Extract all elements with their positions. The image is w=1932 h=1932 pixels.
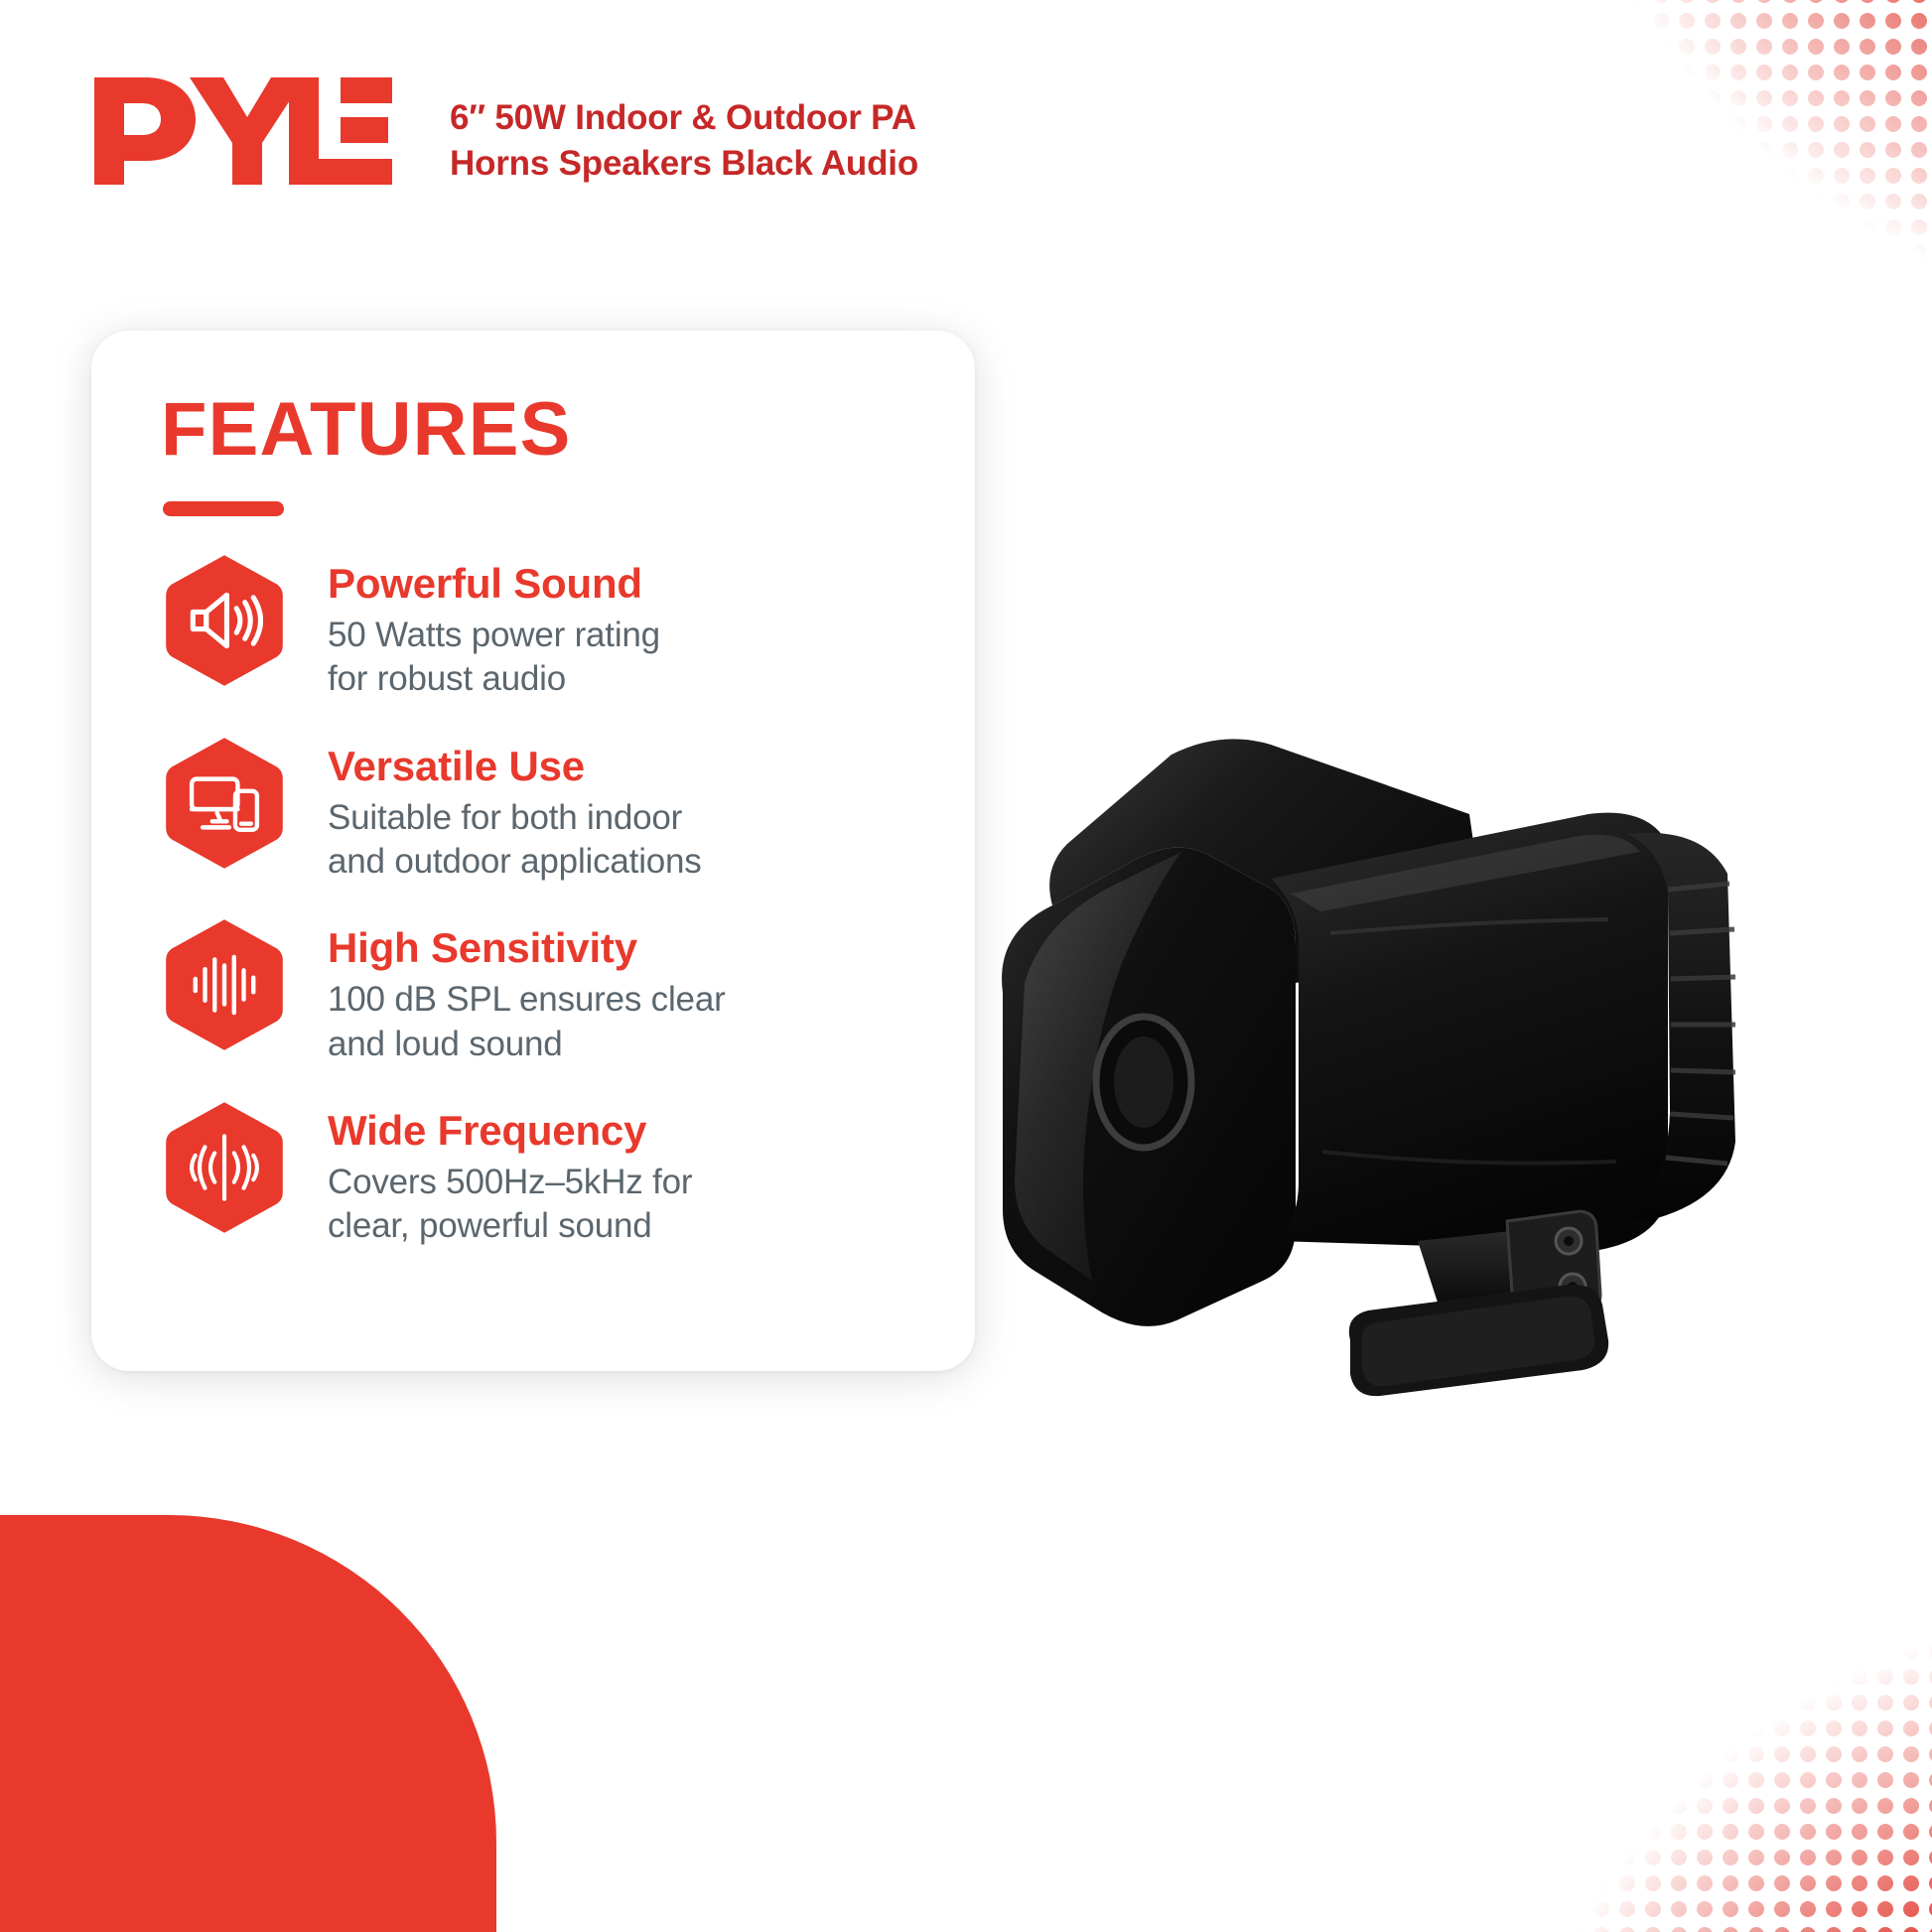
product-title: 6″ 50W Indoor & Outdoor PA Horns Speaker… xyxy=(450,77,918,186)
feature-description: Covers 500Hz–5kHz for clear, powerful so… xyxy=(328,1161,692,1248)
product-image xyxy=(973,685,1797,1440)
feature-text: High Sensitivity 100 dB SPL ensures clea… xyxy=(328,915,726,1066)
feature-item: Versatile Use Suitable for both indoor a… xyxy=(155,734,949,885)
feature-title: Versatile Use xyxy=(328,744,702,788)
speaker-waves-icon xyxy=(186,582,263,659)
halftone-dots-top-right-icon xyxy=(1287,0,1932,566)
monitor-phone-icon xyxy=(186,764,263,842)
halftone-dots-bottom-right-icon xyxy=(1356,1406,1932,1932)
feature-description: 50 Watts power rating for robust audio xyxy=(328,614,660,701)
feature-icon-badge xyxy=(155,915,294,1054)
features-card: FEATURES xyxy=(91,331,975,1371)
features-heading: FEATURES xyxy=(161,392,572,468)
heading-underline xyxy=(163,501,284,516)
corner-accent-shape xyxy=(0,1515,496,1932)
infographic-page: 6″ 50W Indoor & Outdoor PA Horns Speaker… xyxy=(0,0,1932,1932)
feature-title: Powerful Sound xyxy=(328,561,660,606)
pyle-logo xyxy=(94,77,392,185)
feature-icon-badge xyxy=(155,551,294,690)
feature-item: Wide Frequency Covers 500Hz–5kHz for cle… xyxy=(155,1098,949,1249)
feature-title: High Sensitivity xyxy=(328,925,726,970)
feature-text: Versatile Use Suitable for both indoor a… xyxy=(328,734,702,885)
feature-text: Wide Frequency Covers 500Hz–5kHz for cle… xyxy=(328,1098,692,1249)
feature-item: High Sensitivity 100 dB SPL ensures clea… xyxy=(155,915,949,1066)
feature-item: Powerful Sound 50 Watts power rating for… xyxy=(155,551,949,702)
waveform-bars-icon xyxy=(186,946,263,1024)
feature-list: Powerful Sound 50 Watts power rating for… xyxy=(155,551,949,1248)
feature-description: 100 dB SPL ensures clear and loud sound xyxy=(328,978,726,1065)
header: 6″ 50W Indoor & Outdoor PA Horns Speaker… xyxy=(94,77,918,186)
feature-icon-badge xyxy=(155,1098,294,1237)
feature-icon-badge xyxy=(155,734,294,873)
feature-text: Powerful Sound 50 Watts power rating for… xyxy=(328,551,660,702)
feature-title: Wide Frequency xyxy=(328,1108,692,1153)
frequency-waves-icon xyxy=(186,1129,263,1206)
feature-description: Suitable for both indoor and outdoor app… xyxy=(328,796,702,884)
